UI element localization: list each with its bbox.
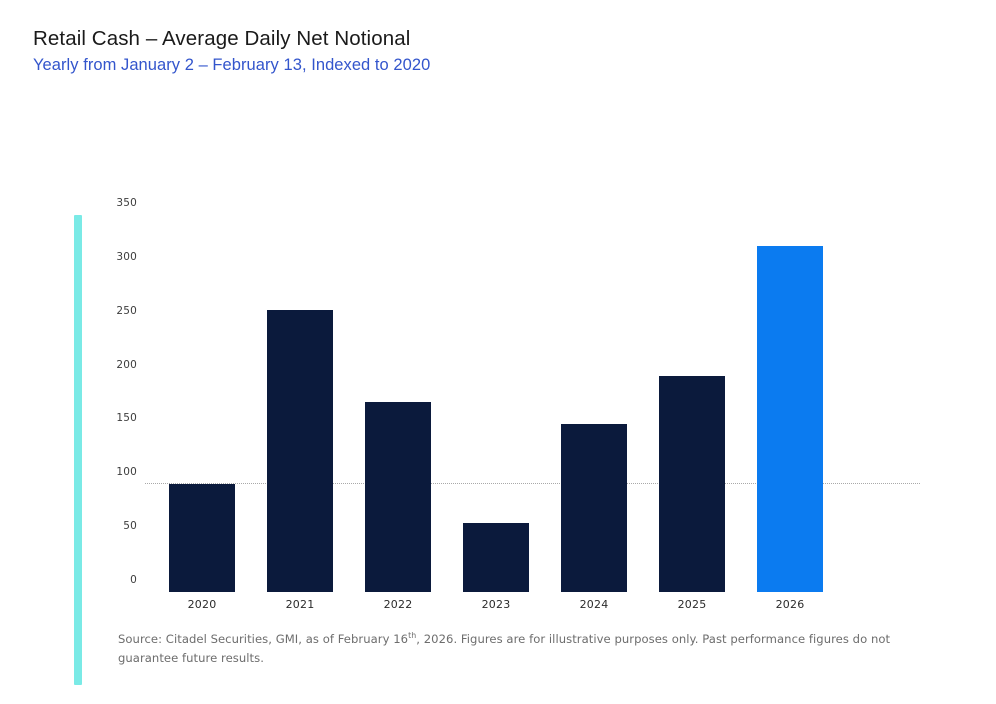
- y-axis-tick-label: 300: [116, 251, 137, 263]
- source-note-prefix: Source: Citadel Securities, GMI, as of F…: [118, 632, 408, 646]
- y-axis-tick-label: 0: [130, 574, 137, 586]
- x-axis-tick-label: 2022: [349, 598, 447, 611]
- bar-group: 2024: [545, 215, 643, 592]
- x-axis-tick-label: 2020: [153, 598, 251, 611]
- x-axis-tick-label: 2021: [251, 598, 349, 611]
- x-axis-tick-label: 2026: [741, 598, 839, 611]
- x-axis-tick-label: 2024: [545, 598, 643, 611]
- y-axis-tick-label: 50: [123, 520, 137, 532]
- x-axis-tick-label: 2023: [447, 598, 545, 611]
- bar-2025[interactable]: [659, 376, 725, 593]
- bar-2024[interactable]: [561, 424, 627, 592]
- bar-2023[interactable]: [463, 523, 529, 592]
- source-note: Source: Citadel Securities, GMI, as of F…: [118, 630, 930, 668]
- y-axis-tick-label: 150: [116, 412, 137, 424]
- bar-group: 2025: [643, 215, 741, 592]
- x-axis-tick-label: 2025: [643, 598, 741, 611]
- bar-chart-figure: 050100150200250300350 202020212022202320…: [0, 0, 996, 704]
- bar-group: 2021: [251, 215, 349, 592]
- bar-2021[interactable]: [267, 310, 333, 592]
- bar-series: 2020202120222023202420252026: [145, 215, 935, 592]
- y-axis-tick-label: 250: [116, 305, 137, 317]
- bar-group: 2022: [349, 215, 447, 592]
- plot-area: 050100150200250300350 202020212022202320…: [145, 215, 935, 592]
- bar-2022[interactable]: [365, 402, 431, 592]
- y-axis-tick-label: 100: [116, 466, 137, 478]
- bar-2026[interactable]: [757, 246, 823, 592]
- y-axis-tick-label: 200: [116, 359, 137, 371]
- y-axis-tick-label: 350: [116, 197, 137, 209]
- bar-group: 2026: [741, 215, 839, 592]
- bar-2020[interactable]: [169, 484, 235, 592]
- bar-group: 2020: [153, 215, 251, 592]
- bar-group: 2023: [447, 215, 545, 592]
